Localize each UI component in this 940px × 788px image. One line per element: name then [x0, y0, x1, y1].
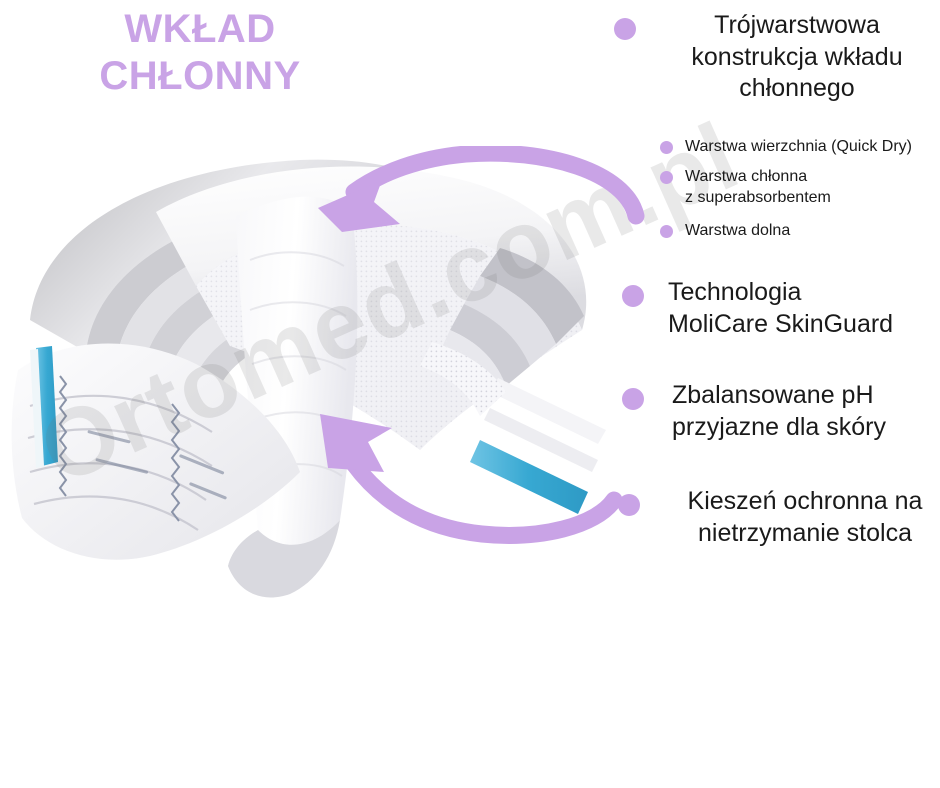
sub-item-bottom-layer: Warstwa dolna: [660, 220, 940, 241]
product-image: [0, 120, 620, 620]
bullet-dot-icon: [660, 141, 673, 154]
feature-item-skinguard: Technologia MoliCare SkinGuard: [622, 277, 940, 340]
sub-item-label: Warstwa dolna: [685, 220, 790, 241]
bullet-dot-icon: [614, 18, 636, 40]
feature-item-balanced-ph: Zbalansowane pH przyjazne dla skóry: [622, 380, 940, 443]
bullet-dot-icon: [660, 171, 673, 184]
infographic-root: WKŁAD CHŁONNY: [0, 0, 940, 788]
bullet-dot-icon: [660, 225, 673, 238]
sub-item-top-layer: Warstwa wierzchnia (Quick Dry): [660, 136, 940, 157]
feature-label: Technologia MoliCare SkinGuard: [668, 277, 893, 340]
sub-item-label: Warstwa wierzchnia (Quick Dry): [685, 136, 912, 157]
feature-label: Zbalansowane pH przyjazne dla skóry: [672, 380, 886, 443]
feature-label: Trójwarstwowa konstrukcja wkładu chłonne…: [656, 10, 938, 105]
sub-item-absorbent-layer: Warstwa chłonna z superabsorbentem: [660, 166, 940, 208]
feature-item-three-layer: Trójwarstwowa konstrukcja wkładu chłonne…: [614, 10, 940, 105]
feature-list: Trójwarstwowa konstrukcja wkładu chłonne…: [608, 0, 940, 580]
bullet-dot-icon: [618, 494, 640, 516]
bullet-dot-icon: [622, 388, 644, 410]
page-title: WKŁAD CHŁONNY: [0, 6, 400, 100]
sub-item-label: Warstwa chłonna z superabsorbentem: [685, 166, 831, 208]
feature-label: Kieszeń ochronna na nietrzymanie stolca: [662, 486, 940, 549]
bullet-dot-icon: [622, 285, 644, 307]
feature-item-protective-pocket: Kieszeń ochronna na nietrzymanie stolca: [618, 486, 940, 549]
